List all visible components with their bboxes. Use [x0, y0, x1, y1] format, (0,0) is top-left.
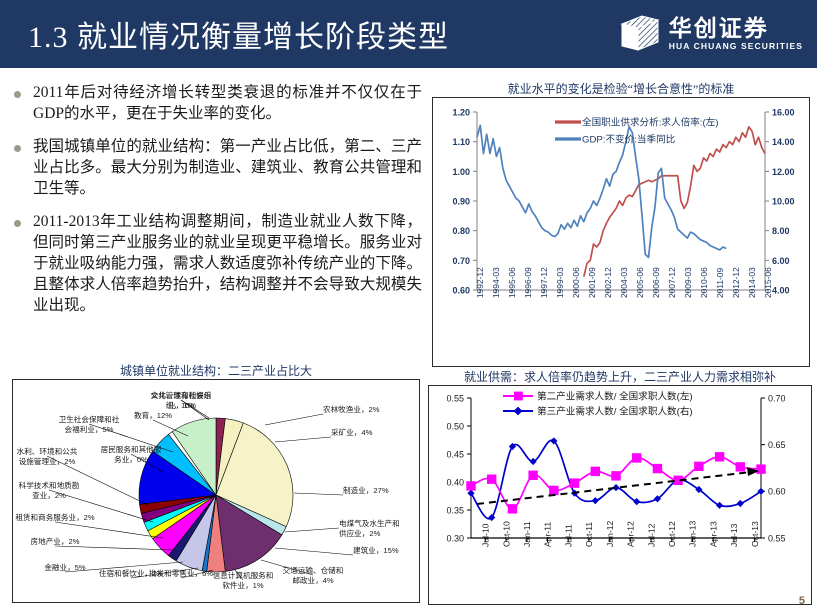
- svg-text:0.55: 0.55: [768, 533, 786, 543]
- bullet-text: 2011年后对待经济增长转型类衰退的标准并不仅仅在于GDP的水平，更在于失业率的…: [33, 82, 422, 124]
- svg-text:2007-12: 2007-12: [667, 267, 677, 298]
- svg-text:2012-12: 2012-12: [731, 267, 741, 298]
- bullet-list: 2011年后对待经济增长转型类衰退的标准并不仅仅在于GDP的水平，更在于失业率的…: [14, 82, 422, 328]
- svg-text:Jul-13: Jul-13: [729, 523, 739, 547]
- svg-text:信息计算机服务和: 信息计算机服务和: [213, 570, 274, 580]
- svg-text:1.20: 1.20: [452, 108, 470, 118]
- svg-text:2009-03: 2009-03: [683, 267, 693, 298]
- svg-text:建筑业，15%: 建筑业，15%: [353, 545, 399, 555]
- svg-text:0.60: 0.60: [768, 487, 786, 497]
- list-item: 2011年后对待经济增长转型类衰退的标准并不仅仅在于GDP的水平，更在于失业率的…: [14, 82, 422, 124]
- svg-text:0.55: 0.55: [446, 393, 464, 403]
- svg-text:2002-12: 2002-12: [603, 267, 613, 298]
- svg-text:1.00: 1.00: [452, 167, 470, 177]
- svg-text:6.00: 6.00: [772, 256, 790, 266]
- svg-text:2011-09: 2011-09: [715, 268, 725, 298]
- svg-text:2006-09: 2006-09: [651, 267, 661, 298]
- logo-text-en: HUA CHUANG SECURITIES: [669, 41, 803, 51]
- svg-text:1994-03: 1994-03: [491, 267, 501, 298]
- page-title: 1.3 就业情况衡量增长阶段类型: [28, 12, 449, 56]
- svg-text:科学技术和地质勘: 科学技术和地质勘: [19, 480, 80, 490]
- bullet-dot-icon: [14, 91, 21, 98]
- svg-text:12.00: 12.00: [772, 167, 795, 177]
- svg-text:0.45: 0.45: [446, 449, 464, 459]
- svg-text:文化、体育和娱乐: 文化、体育和娱乐: [151, 390, 212, 400]
- svg-text:1999-03: 1999-03: [555, 267, 565, 298]
- svg-text:Jul-10: Jul-10: [481, 523, 491, 547]
- svg-text:4.00: 4.00: [772, 286, 790, 296]
- svg-text:Apr-12: Apr-12: [626, 521, 636, 547]
- bullet-text: 2011-2013年工业结构调整期间，制造业就业人数下降，但同时第三产业服务业的…: [33, 211, 422, 316]
- svg-text:Jan-12: Jan-12: [605, 521, 615, 547]
- bullet-dot-icon: [14, 220, 21, 227]
- svg-text:0.30: 0.30: [446, 533, 464, 543]
- svg-text:GDP:不变价:当季同比: GDP:不变价:当季同比: [582, 134, 676, 146]
- svg-text:查业，2%: 查业，2%: [32, 490, 66, 500]
- svg-text:软件业，1%: 软件业，1%: [222, 580, 264, 590]
- svg-text:邮政业，4%: 邮政业，4%: [292, 575, 334, 585]
- employment-structure-pie: 城镇单位就业结构：二三产业占比大 公共管理和社会组织，10%农林牧渔业，2%采矿…: [12, 362, 420, 603]
- svg-text:1997-12: 1997-12: [539, 267, 549, 298]
- employment-gdp-chart: 就业水平的变化是检验“增长合意性”的标准 0.600.700.800.901.0…: [432, 80, 810, 367]
- svg-text:0.60: 0.60: [452, 286, 470, 296]
- svg-text:10.00: 10.00: [772, 197, 795, 207]
- svg-text:会福利业，5%: 会福利业，5%: [65, 424, 114, 434]
- svg-text:16.00: 16.00: [772, 108, 795, 118]
- svg-text:住宿和餐饮业，2%: 住宿和餐饮业，2%: [99, 568, 163, 578]
- svg-text:0.50: 0.50: [446, 421, 464, 431]
- svg-text:14.00: 14.00: [772, 137, 795, 147]
- company-logo: 华创证券 HUA CHUANG SECURITIES: [620, 12, 803, 56]
- chart-plot-area: 0.600.700.800.901.001.101.204.006.008.00…: [432, 97, 810, 367]
- svg-text:租赁和商务服务业，2%: 租赁和商务服务业，2%: [15, 512, 95, 522]
- svg-text:教育，12%: 教育，12%: [134, 410, 172, 420]
- svg-text:2014-03: 2014-03: [747, 267, 757, 298]
- svg-text:0.90: 0.90: [452, 197, 470, 207]
- svg-text:1992-12: 1992-12: [475, 267, 485, 298]
- svg-text:1.10: 1.10: [452, 137, 470, 147]
- chart-title: 城镇单位就业结构：二三产业占比大: [12, 362, 420, 379]
- svg-text:卫生社会保障和社: 卫生社会保障和社: [59, 414, 120, 424]
- svg-text:0.40: 0.40: [446, 477, 464, 487]
- svg-text:1996-09: 1996-09: [523, 267, 533, 298]
- svg-text:金融业，5%: 金融业，5%: [44, 562, 86, 572]
- chart-plot-area: 0.300.350.400.450.500.550.550.600.650.70…: [428, 385, 812, 605]
- chart-title: 就业供需：求人倍率仍趋势上升，二三产业人力需求相弥补: [428, 368, 812, 385]
- chart-title: 就业水平的变化是检验“增长合意性”的标准: [432, 80, 810, 97]
- svg-text:农林牧渔业，2%: 农林牧渔业，2%: [323, 404, 380, 414]
- list-item: 我国城镇单位的就业结构：第一产业占比低，第二、三产业占比多。最大分别为制造业、建…: [14, 136, 422, 199]
- list-item: 2011-2013年工业结构调整期间，制造业就业人数下降，但同时第三产业服务业的…: [14, 211, 422, 316]
- svg-text:设施管理业，2%: 设施管理业，2%: [19, 456, 76, 466]
- svg-text:采矿业，4%: 采矿业，4%: [331, 427, 373, 437]
- svg-text:水利、环境和公共: 水利、环境和公共: [17, 446, 78, 456]
- svg-text:Oct-13: Oct-13: [750, 521, 760, 547]
- chart-plot-area: 公共管理和社会组织，10%农林牧渔业，2%采矿业，4%制造业，27%电煤气及水生…: [12, 379, 420, 603]
- svg-text:业，1%: 业，1%: [168, 400, 194, 410]
- svg-text:1995-06: 1995-06: [507, 267, 517, 298]
- svg-text:Jan-11: Jan-11: [522, 521, 532, 547]
- svg-text:8.00: 8.00: [772, 226, 790, 236]
- bullet-text: 我国城镇单位的就业结构：第一产业占比低，第二、三产业占比多。最大分别为制造业、建…: [33, 136, 422, 199]
- svg-text:Oct-11: Oct-11: [584, 522, 594, 547]
- logo-text-cn: 华创证券: [669, 16, 803, 40]
- slide-header: 1.3 就业情况衡量增长阶段类型 华创证券 HUA CHUANG SECURIT…: [0, 0, 817, 68]
- labor-supply-demand-chart: 就业供需：求人倍率仍趋势上升，二三产业人力需求相弥补 0.300.350.400…: [428, 368, 812, 605]
- svg-text:Jan-13: Jan-13: [688, 521, 698, 547]
- svg-text:2000-06: 2000-06: [571, 267, 581, 298]
- svg-text:交通运输、仓储和: 交通运输、仓储和: [283, 565, 344, 575]
- svg-text:房地产业，2%: 房地产业，2%: [31, 536, 80, 546]
- svg-text:2001-09: 2001-09: [587, 267, 597, 298]
- svg-text:Jul-11: Jul-11: [563, 524, 573, 547]
- svg-text:供应业，2%: 供应业，2%: [339, 528, 381, 538]
- svg-text:2005-06: 2005-06: [635, 267, 645, 298]
- svg-text:制造业，27%: 制造业，27%: [343, 485, 389, 495]
- page-number: 5: [799, 595, 805, 607]
- svg-text:Oct-12: Oct-12: [667, 521, 677, 547]
- svg-text:务业，0%: 务业，0%: [114, 454, 148, 464]
- svg-text:Apr-13: Apr-13: [708, 521, 718, 547]
- svg-text:0.70: 0.70: [452, 256, 470, 266]
- svg-text:0.80: 0.80: [452, 226, 470, 236]
- svg-text:Oct-10: Oct-10: [501, 521, 511, 547]
- svg-text:第三产业需求人数/ 全国求职人数(右): 第三产业需求人数/ 全国求职人数(右): [537, 406, 693, 418]
- svg-text:2015-06: 2015-06: [763, 267, 773, 298]
- svg-text:Jul-12: Jul-12: [646, 523, 656, 547]
- svg-text:电煤气及水生产和: 电煤气及水生产和: [339, 518, 400, 528]
- svg-text:0.35: 0.35: [446, 505, 464, 515]
- svg-text:全国职业供求分析:求人倍率:(左): 全国职业供求分析:求人倍率:(左): [582, 117, 718, 129]
- svg-text:2004-03: 2004-03: [619, 267, 629, 298]
- svg-text:2010-06: 2010-06: [699, 267, 709, 298]
- svg-text:第二产业需求人数/ 全国求职人数(左): 第二产业需求人数/ 全国求职人数(左): [537, 391, 693, 403]
- bullet-dot-icon: [14, 145, 21, 152]
- svg-text:居民服务和其他服: 居民服务和其他服: [101, 444, 162, 454]
- svg-text:Apr-11: Apr-11: [543, 522, 553, 547]
- cube-logo-icon: [620, 14, 660, 54]
- svg-text:0.65: 0.65: [768, 440, 786, 450]
- svg-text:0.70: 0.70: [768, 393, 786, 403]
